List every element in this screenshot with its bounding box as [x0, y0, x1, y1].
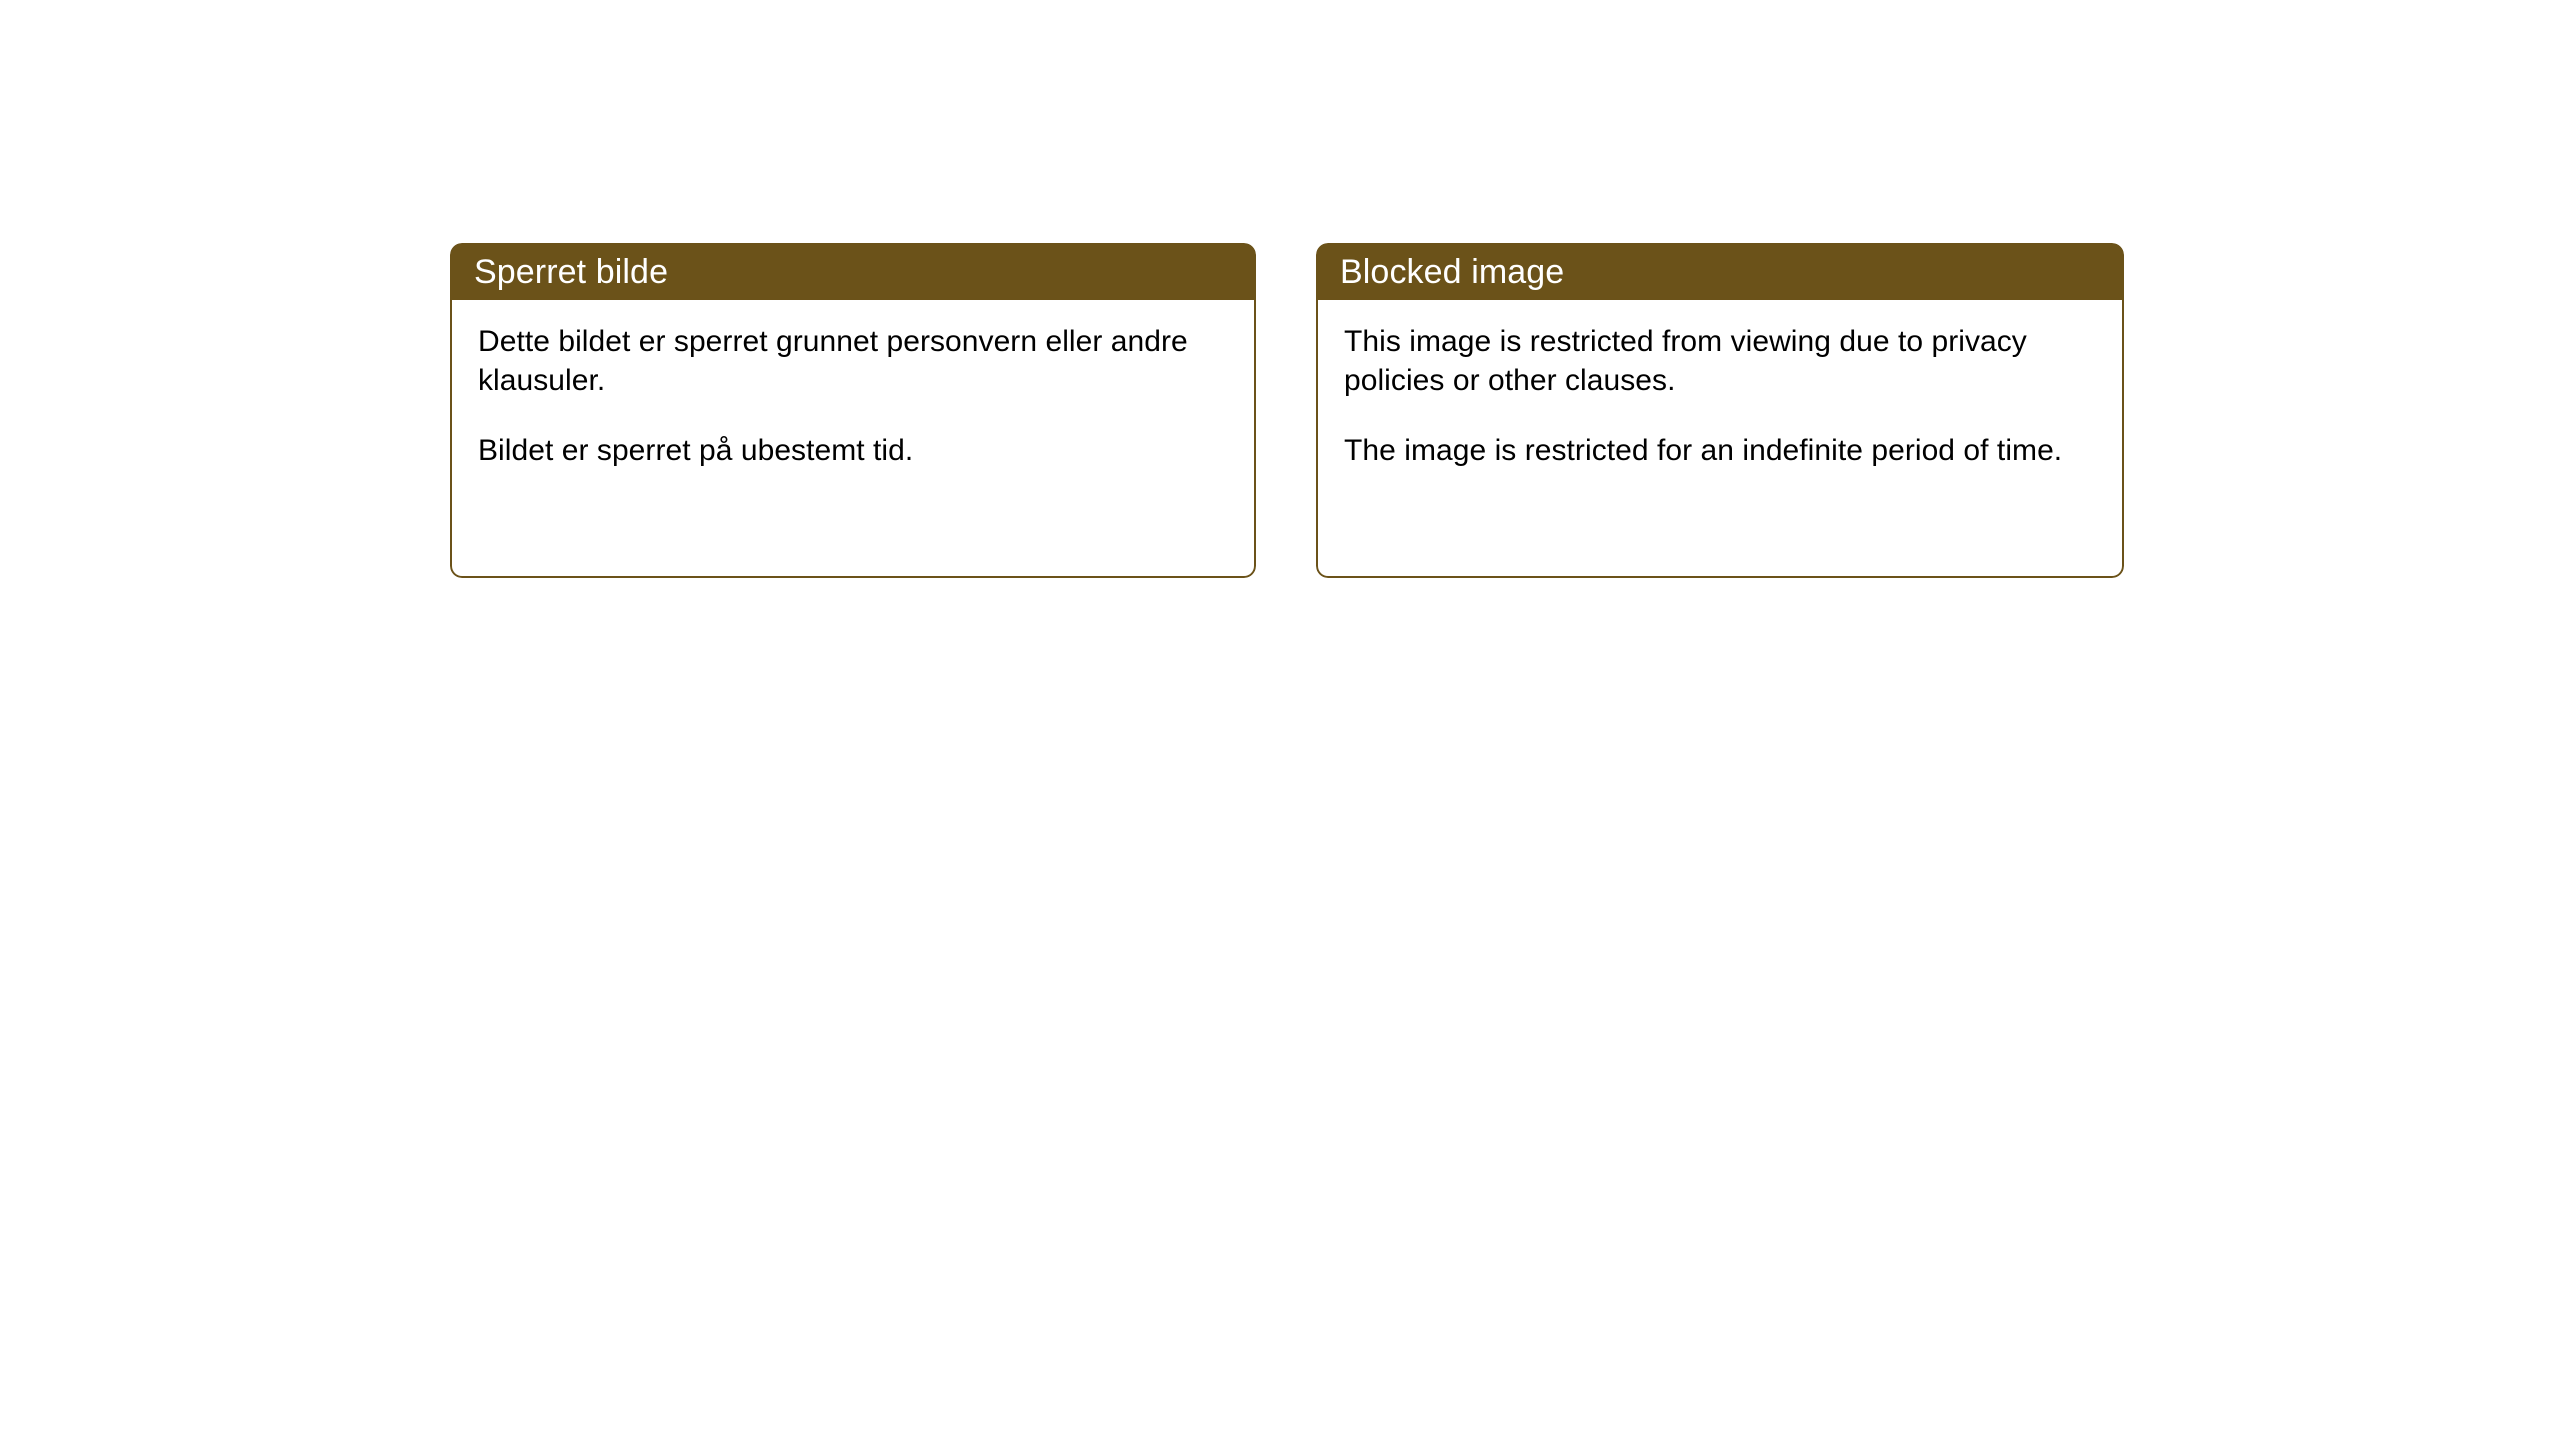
- panel-header-english: Blocked image: [1316, 243, 2124, 300]
- blocked-image-panel-norwegian: Sperret bilde Dette bildet er sperret gr…: [450, 243, 1256, 578]
- panel-paragraph-secondary-norwegian: Bildet er sperret på ubestemt tid.: [478, 431, 1228, 470]
- paragraph-spacer: [478, 400, 1228, 431]
- panel-paragraph-primary-norwegian: Dette bildet er sperret grunnet personve…: [478, 322, 1228, 400]
- panel-body-english: This image is restricted from viewing du…: [1316, 300, 2124, 578]
- page-canvas: Sperret bilde Dette bildet er sperret gr…: [0, 0, 2560, 1440]
- paragraph-spacer: [1344, 400, 2096, 431]
- panel-header-norwegian: Sperret bilde: [450, 243, 1256, 300]
- panel-title-english: Blocked image: [1340, 255, 1564, 289]
- panel-body-norwegian: Dette bildet er sperret grunnet personve…: [450, 300, 1256, 578]
- panel-paragraph-secondary-english: The image is restricted for an indefinit…: [1344, 431, 2096, 470]
- panel-title-norwegian: Sperret bilde: [474, 255, 668, 289]
- panel-paragraph-primary-english: This image is restricted from viewing du…: [1344, 322, 2096, 400]
- blocked-image-panel-english: Blocked image This image is restricted f…: [1316, 243, 2124, 578]
